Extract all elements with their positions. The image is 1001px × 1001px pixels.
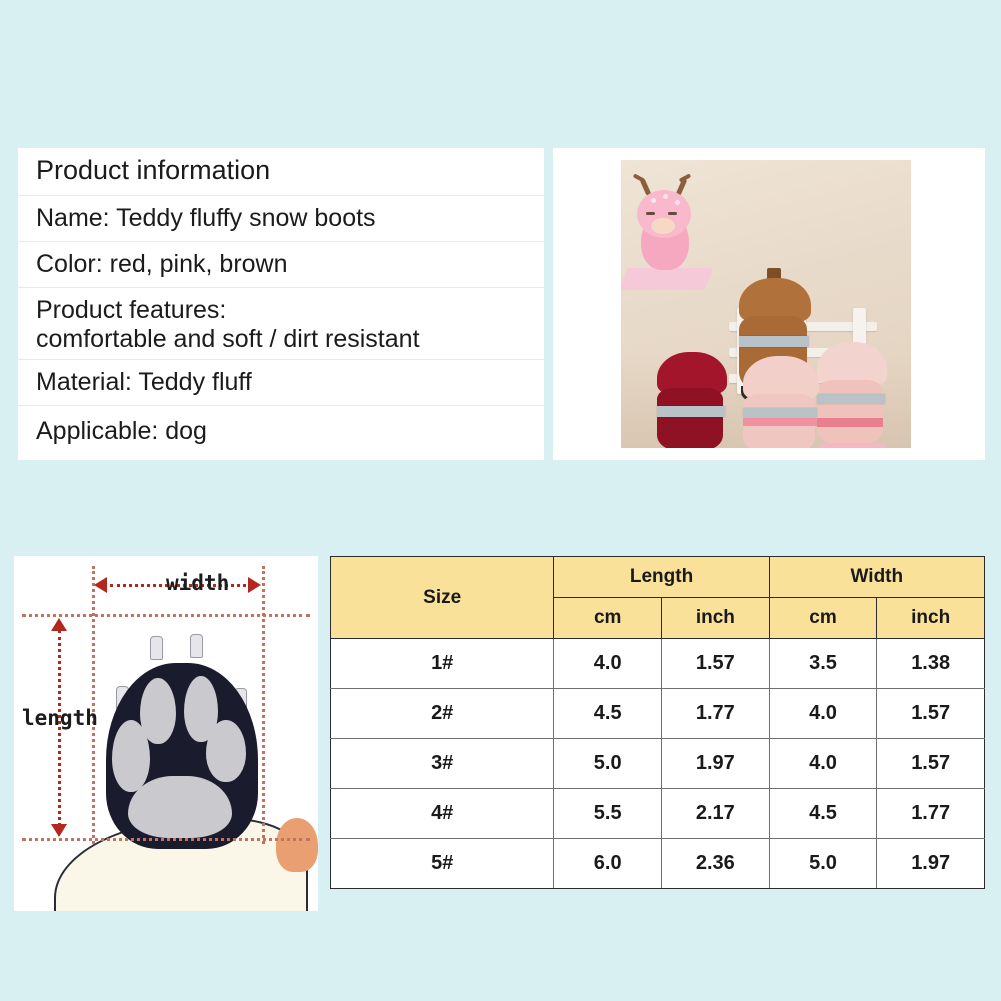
boot-shaft	[657, 388, 723, 448]
deer-spot	[651, 198, 656, 203]
cell-width-cm: 4.0	[769, 739, 877, 789]
width-arrow-head-right	[248, 577, 261, 593]
cell-length-inch: 1.97	[662, 739, 770, 789]
boot-reflective-strap	[817, 394, 885, 404]
boot-reflective-strap	[657, 406, 725, 417]
cell-width-cm: 5.0	[769, 839, 877, 889]
product-info-row-name: Name: Teddy fluffy snow boots	[18, 196, 544, 242]
product-photo-panel	[553, 148, 985, 460]
cell-size: 5#	[331, 839, 554, 889]
boot-pink-center	[743, 356, 819, 448]
cell-length-cm: 5.5	[554, 789, 662, 839]
size-chart-table: Size Length Width cm inch cm inch 1#4.01…	[330, 556, 985, 889]
length-arrow-head-up	[51, 618, 67, 631]
cell-length-inch: 1.57	[662, 639, 770, 689]
cell-size: 1#	[331, 639, 554, 689]
product-info-row-applicable: Applicable: dog	[18, 406, 544, 456]
cell-length-cm: 4.5	[554, 689, 662, 739]
column-header-width: Width	[769, 557, 984, 598]
product-information-title: Product information	[18, 148, 544, 196]
boot-pink-right	[817, 342, 887, 448]
cell-width-inch: 1.57	[877, 689, 985, 739]
guide-line-vertical-left	[92, 566, 95, 844]
cell-width-cm: 3.5	[769, 639, 877, 689]
boot-shaft	[817, 380, 883, 444]
paw-claw	[150, 636, 163, 660]
cell-length-cm: 5.0	[554, 739, 662, 789]
boot-trim	[817, 418, 883, 427]
boot-red	[657, 352, 727, 448]
cell-width-inch: 1.97	[877, 839, 985, 889]
cell-size: 4#	[331, 789, 554, 839]
deer-base	[621, 268, 713, 290]
cell-width-inch: 1.38	[877, 639, 985, 689]
column-header-size: Size	[331, 557, 554, 639]
paw-pad-toe	[206, 720, 246, 782]
product-info-row-features: Product features: comfortable and soft /…	[18, 288, 544, 360]
table-row: 3#5.01.974.01.57	[331, 739, 985, 789]
cell-width-cm: 4.5	[769, 789, 877, 839]
column-header-width-inch: inch	[877, 598, 985, 639]
product-info-row-material: Material: Teddy fluff	[18, 360, 544, 406]
deer-spot	[663, 194, 668, 199]
deer-eye-left	[646, 212, 655, 215]
dog-paw-illustration	[106, 634, 258, 849]
product-features-line-2: comfortable and soft / dirt resistant	[36, 325, 544, 354]
column-header-width-cm: cm	[769, 598, 877, 639]
product-information-panel: Product information Name: Teddy fluffy s…	[18, 148, 544, 460]
cell-width-cm: 4.0	[769, 689, 877, 739]
boot-reflective-strap	[739, 336, 809, 347]
column-header-length: Length	[554, 557, 769, 598]
dog-ear-illustration	[276, 818, 318, 872]
boot-reflective-strap	[743, 408, 817, 418]
product-features-line-1: Product features:	[36, 296, 544, 325]
guide-line-horizontal-bottom	[22, 838, 310, 841]
boot-trim	[743, 418, 817, 426]
size-chart-header-row-groups: Size Length Width	[331, 557, 985, 598]
cell-length-cm: 6.0	[554, 839, 662, 889]
column-header-length-cm: cm	[554, 598, 662, 639]
length-label: length	[22, 706, 98, 730]
product-info-row-color: Color: red, pink, brown	[18, 242, 544, 288]
cell-length-inch: 2.17	[662, 789, 770, 839]
column-header-length-inch: inch	[662, 598, 770, 639]
paw-pad-heel	[128, 776, 232, 838]
width-arrow-head-left	[94, 577, 107, 593]
guide-line-vertical-right	[262, 566, 265, 844]
product-photo-image	[621, 160, 911, 448]
cell-size: 2#	[331, 689, 554, 739]
paw-claw	[190, 634, 203, 658]
cell-length-inch: 1.77	[662, 689, 770, 739]
length-arrow-head-down	[51, 824, 67, 837]
paw-measurement-diagram: width length	[14, 556, 318, 911]
table-row: 4#5.52.174.51.77	[331, 789, 985, 839]
table-row: 1#4.01.573.51.38	[331, 639, 985, 689]
paw-pad-toe	[112, 720, 150, 792]
table-row: 5#6.02.365.01.97	[331, 839, 985, 889]
width-label: width	[166, 571, 229, 595]
cell-width-inch: 1.77	[877, 789, 985, 839]
deer-spot	[675, 200, 680, 205]
deer-snout	[651, 218, 675, 234]
cell-length-inch: 2.36	[662, 839, 770, 889]
cell-size: 3#	[331, 739, 554, 789]
cell-width-inch: 1.57	[877, 739, 985, 789]
deer-eye-right	[668, 212, 677, 215]
table-row: 2#4.51.774.01.57	[331, 689, 985, 739]
guide-line-horizontal-top	[22, 614, 310, 617]
cell-length-cm: 4.0	[554, 639, 662, 689]
deer-antler-branch-left	[633, 173, 645, 182]
boot-sole	[819, 443, 885, 448]
size-chart-body: 1#4.01.573.51.382#4.51.774.01.573#5.01.9…	[331, 639, 985, 889]
size-chart-header: Size Length Width cm inch cm inch	[331, 557, 985, 639]
